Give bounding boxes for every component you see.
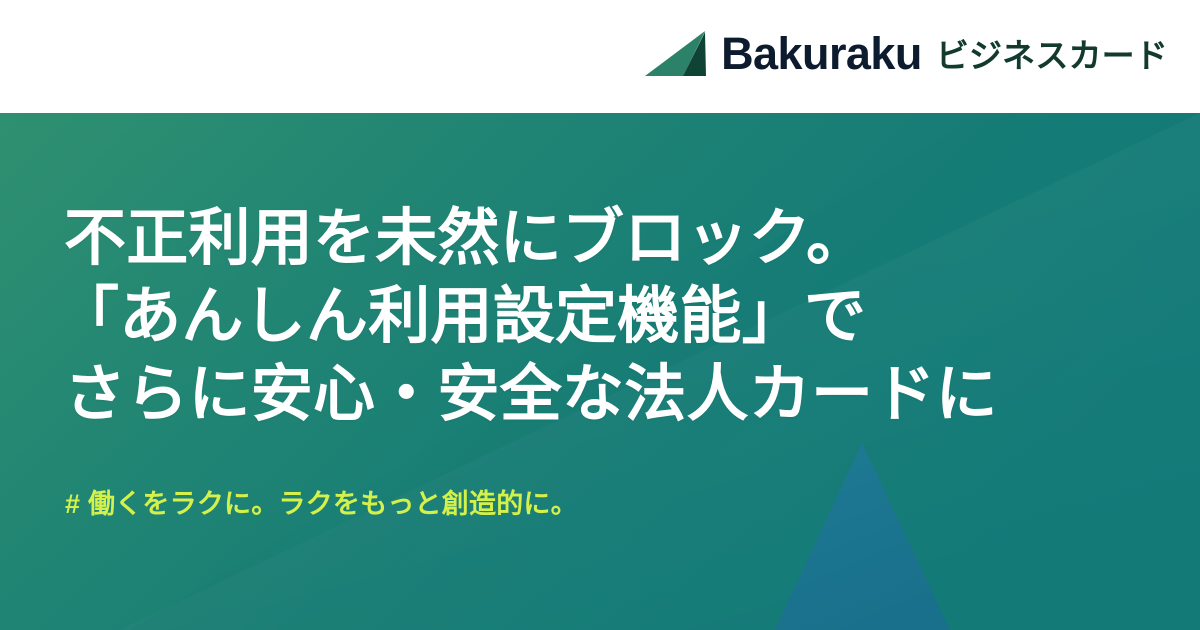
- bakuraku-triangle-logo-icon: [645, 31, 707, 77]
- product-name-label: ビジネスカード: [936, 39, 1168, 72]
- hero-headline: 不正利用を未然にブロック。 「あんしん利用設定機能」で さらに安心・安全な法人カ…: [64, 200, 998, 434]
- hero-panel: 不正利用を未然にブロック。 「あんしん利用設定機能」で さらに安心・安全な法人カ…: [0, 113, 1200, 630]
- og-image-canvas: Bakuraku ビジネスカード: [0, 0, 1200, 630]
- headline-line-2: 「あんしん利用設定機能」で: [57, 278, 998, 356]
- headline-line-3: さらに安心・安全な法人カードに: [64, 356, 998, 434]
- brand-lockup[interactable]: Bakuraku ビジネスカード: [645, 31, 1168, 77]
- page-header: Bakuraku ビジネスカード: [0, 0, 1200, 113]
- bakuraku-wordmark: Bakuraku: [721, 31, 922, 76]
- hero-tagline: # 働くをラクに。ラクをもっと創造的に。: [65, 491, 578, 518]
- headline-line-1: 不正利用を未然にブロック。: [64, 200, 998, 278]
- hero-content: 不正利用を未然にブロック。 「あんしん利用設定機能」で さらに安心・安全な法人カ…: [0, 113, 1200, 630]
